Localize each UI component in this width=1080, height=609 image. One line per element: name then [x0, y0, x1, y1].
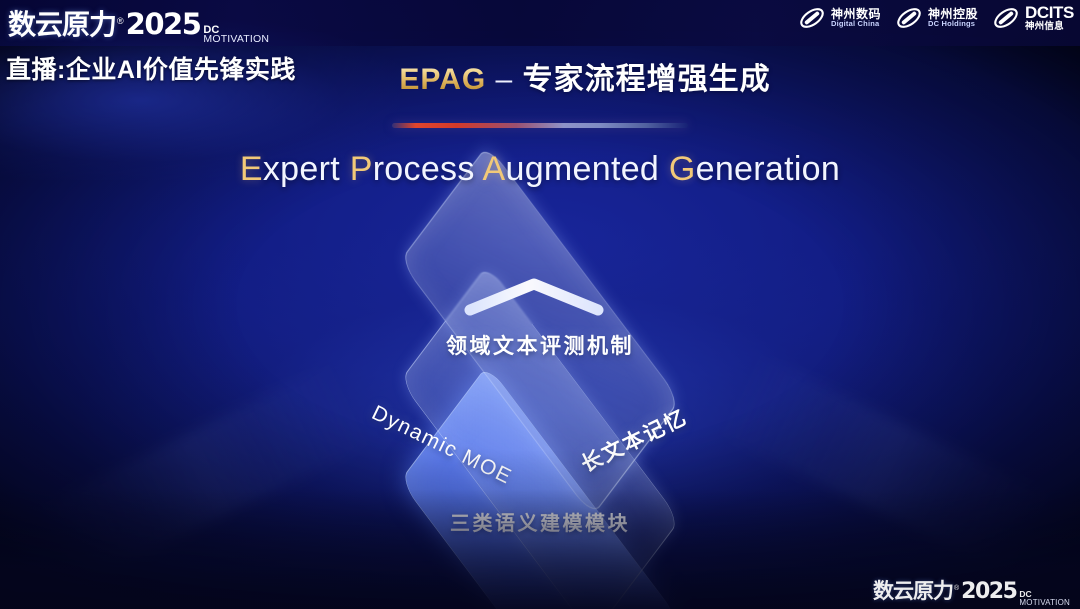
subtitle-rest-generation: eneration — [696, 150, 840, 188]
partner-name-en: Digital China — [831, 20, 881, 28]
watermark-year: 2025 — [961, 579, 1016, 604]
page-title: EPAG – 专家流程增强生成 — [0, 54, 1080, 98]
partner-logo-dcits: DCITS 神州信息 — [992, 4, 1074, 32]
page-title-dash: – — [496, 63, 514, 96]
partner-name-en: DC Holdings — [928, 20, 978, 28]
partner-logo-digital-china: 神州数码 Digital China — [798, 4, 881, 32]
subtitle-cap-p: P — [350, 150, 373, 188]
brand-logo-motivation: MOTIVATION — [203, 35, 269, 45]
subtitle-word-augmented: Augmented — [483, 150, 660, 188]
title-divider — [392, 123, 688, 128]
slide-canvas: 领域文本评测机制 Dynamic MOE 长文本记忆 三类语义建模模块 数云原力… — [0, 0, 1080, 609]
subtitle-rest-augmented: ugmented — [506, 150, 660, 188]
brand-logo-registered: ® — [117, 16, 124, 26]
page-subtitle: Expert Process Augmented Generation — [0, 150, 1080, 189]
brand-logo: 数云原力 ® 2025 DC MOTIVATION — [8, 3, 269, 46]
partner-name-en: 神州信息 — [1025, 22, 1074, 32]
subtitle-rest-expert: xpert — [263, 150, 340, 188]
brand-logo-year: 2025 — [126, 7, 201, 41]
watermark-cn: 数云原力 — [873, 575, 953, 605]
watermark-motivation: MOTIVATION — [1019, 599, 1070, 606]
brand-logo-dc-block: DC MOTIVATION — [203, 25, 269, 45]
partner-logo-text: 神州数码 Digital China — [831, 8, 881, 28]
subtitle-word-expert: Expert — [240, 150, 340, 188]
watermark-logo: 数云原力 ® 2025 DC MOTIVATION — [873, 575, 1070, 607]
swirl-icon — [798, 4, 826, 32]
partner-logo-text: DCITS 神州信息 — [1025, 4, 1074, 31]
swirl-icon — [992, 4, 1020, 32]
partner-logo-group: 神州数码 Digital China 神州控股 DC Holdings DCIT… — [798, 4, 1074, 32]
watermark-registered: ® — [954, 585, 959, 592]
partner-name-cn: DCITS — [1025, 4, 1074, 21]
subtitle-cap-a: A — [483, 150, 506, 188]
partner-logo-dc-holdings: 神州控股 DC Holdings — [895, 4, 978, 32]
swirl-icon — [895, 4, 923, 32]
partner-logo-text: 神州控股 DC Holdings — [928, 8, 978, 28]
subtitle-cap-g: G — [669, 150, 696, 188]
subtitle-word-generation: Generation — [669, 150, 840, 188]
page-title-acronym: EPAG — [399, 63, 486, 96]
subtitle-cap-e: E — [240, 150, 263, 188]
subtitle-word-process: Process — [350, 150, 475, 188]
brand-logo-cn: 数云原力 — [8, 3, 116, 43]
watermark-dc-block: DC MOTIVATION — [1019, 591, 1070, 606]
subtitle-rest-process: rocess — [373, 150, 475, 188]
page-title-chinese: 专家流程增强生成 — [523, 63, 771, 96]
